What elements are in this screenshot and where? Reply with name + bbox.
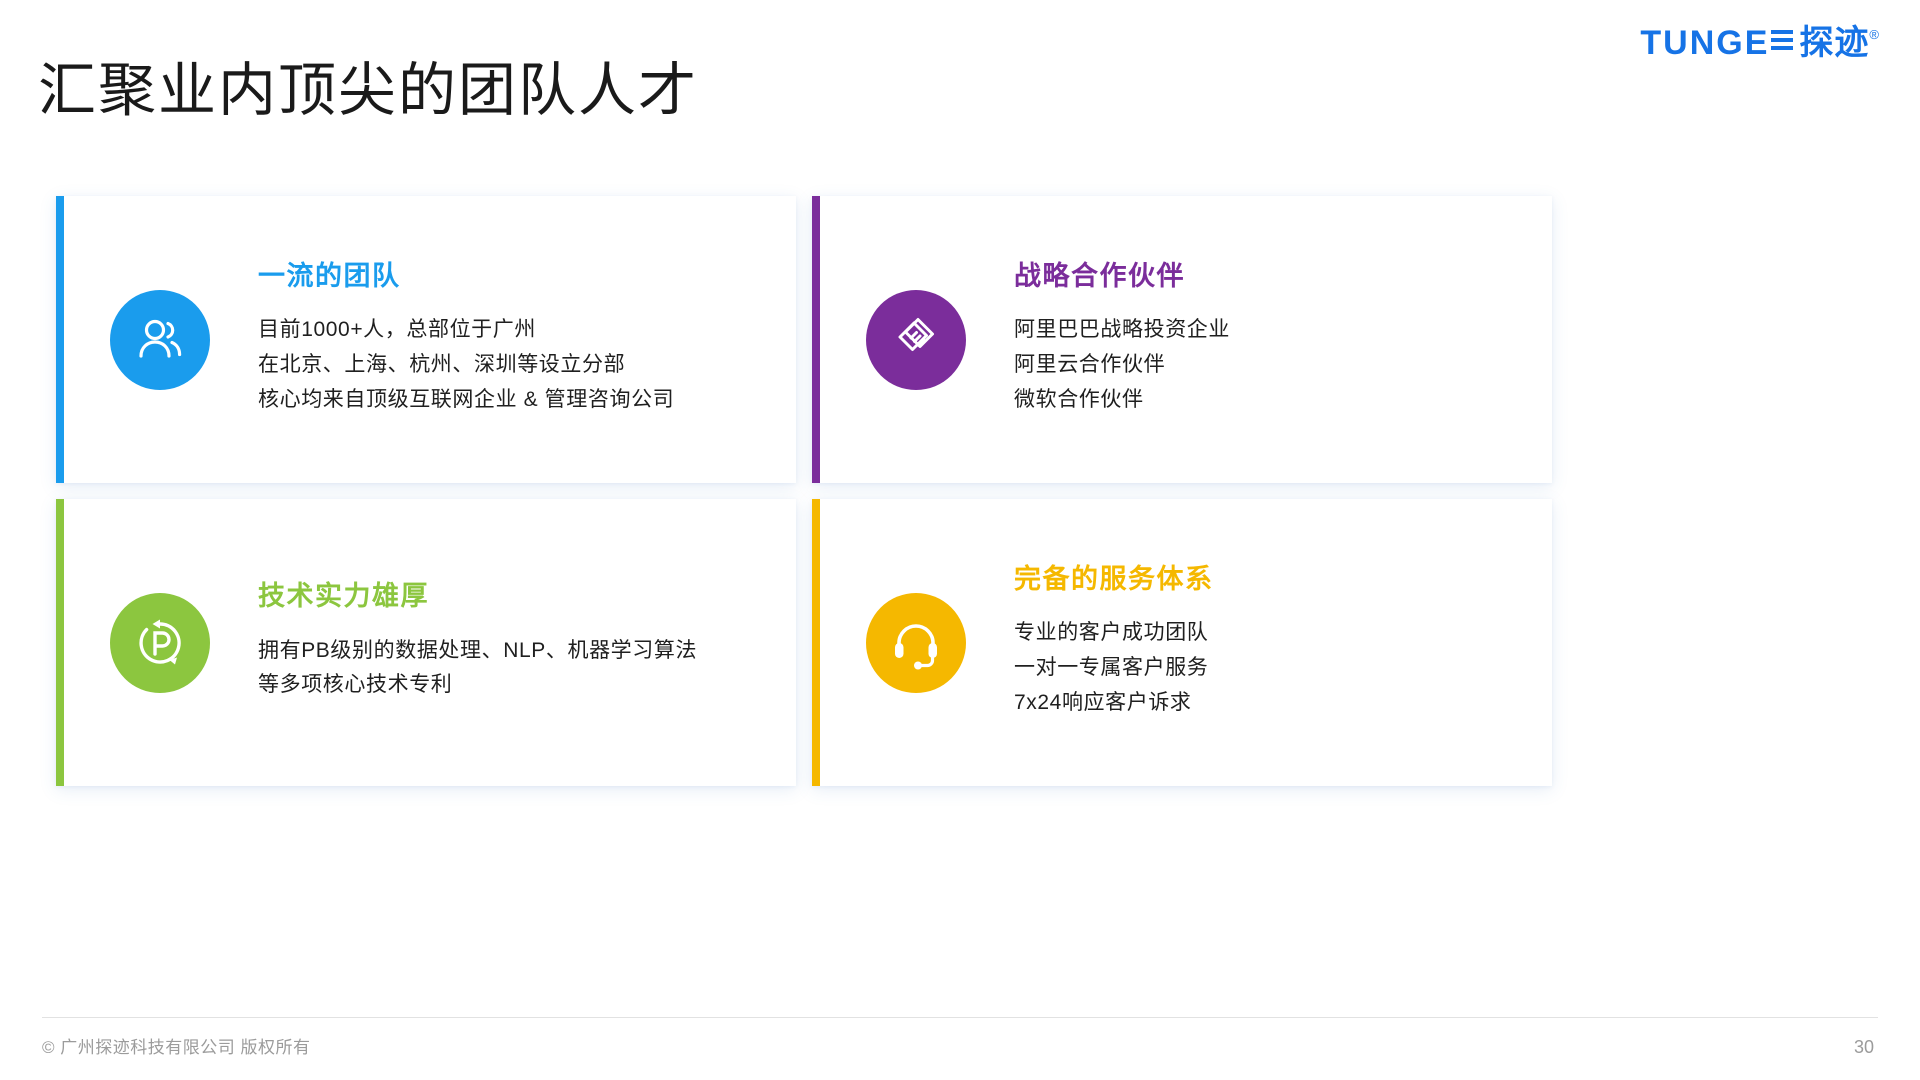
copyright-text: © 广州探迹科技有限公司 版权所有 — [42, 1033, 310, 1058]
tungee-logo-icon: TUNGE 探迹 ® — [1640, 26, 1880, 60]
card-lines: 专业的客户成功团队 一对一专属客户服务 7x24响应客户诉求 — [1014, 616, 1528, 720]
card-line: 专业的客户成功团队 — [1014, 616, 1528, 651]
handshake-icon — [866, 290, 966, 390]
card-body: 战略合作伙伴 阿里巴巴战略投资企业 阿里云合作伙伴 微软合作伙伴 — [1014, 262, 1552, 418]
card-lines: 目前1000+人，总部位于广州 在北京、上海、杭州、深圳等设立分部 核心均来自顶… — [258, 313, 772, 417]
card-body: 一流的团队 目前1000+人，总部位于广州 在北京、上海、杭州、深圳等设立分部 … — [258, 262, 796, 418]
slide: TUNGE 探迹 ® 汇聚业内顶尖的团队人才 一流的团队 目前1000+人，总部… — [0, 0, 1920, 1080]
card-line: 微软合作伙伴 — [1014, 383, 1528, 418]
page-title: 汇聚业内顶尖的团队人才 — [38, 56, 698, 126]
card-line: 阿里云合作伙伴 — [1014, 348, 1528, 383]
footer-divider — [42, 1017, 1878, 1018]
logo-bars-icon — [1771, 26, 1793, 50]
card-title: 技术实力雄厚 — [258, 582, 772, 612]
card-body: 技术实力雄厚 拥有PB级别的数据处理、NLP、机器学习算法 等多项核心技术专利 — [258, 582, 796, 703]
patent-cycle-icon — [110, 593, 210, 693]
headset-icon — [866, 593, 966, 693]
card-line: 在北京、上海、杭州、深圳等设立分部 — [258, 348, 772, 383]
page-number: 30 — [1854, 1037, 1874, 1058]
card-body: 完备的服务体系 专业的客户成功团队 一对一专属客户服务 7x24响应客户诉求 — [1014, 565, 1552, 721]
cards-grid: 一流的团队 目前1000+人，总部位于广州 在北京、上海、杭州、深圳等设立分部 … — [56, 196, 1520, 786]
card-title: 完备的服务体系 — [1014, 565, 1528, 595]
card-lines: 拥有PB级别的数据处理、NLP、机器学习算法 等多项核心技术专利 — [258, 634, 772, 703]
card-line: 拥有PB级别的数据处理、NLP、机器学习算法 — [258, 634, 772, 669]
card-line: 核心均来自顶级互联网企业 & 管理咨询公司 — [258, 383, 772, 418]
card-line: 7x24响应客户诉求 — [1014, 686, 1528, 721]
registered-mark-icon: ® — [1869, 28, 1880, 41]
card-line: 一对一专属客户服务 — [1014, 651, 1528, 686]
card-lines: 阿里巴巴战略投资企业 阿里云合作伙伴 微软合作伙伴 — [1014, 313, 1528, 417]
card-line: 目前1000+人，总部位于广州 — [258, 313, 772, 348]
card-service: 完备的服务体系 专业的客户成功团队 一对一专属客户服务 7x24响应客户诉求 — [812, 499, 1552, 786]
card-title: 战略合作伙伴 — [1014, 262, 1528, 292]
card-technology: 技术实力雄厚 拥有PB级别的数据处理、NLP、机器学习算法 等多项核心技术专利 — [56, 499, 796, 786]
logo-wordmark: TUNGE — [1640, 26, 1769, 60]
users-icon — [110, 290, 210, 390]
card-line: 等多项核心技术专利 — [258, 668, 772, 703]
card-partners: 战略合作伙伴 阿里巴巴战略投资企业 阿里云合作伙伴 微软合作伙伴 — [812, 196, 1552, 483]
card-team: 一流的团队 目前1000+人，总部位于广州 在北京、上海、杭州、深圳等设立分部 … — [56, 196, 796, 483]
logo-chinese-name: 探迹 — [1799, 26, 1869, 60]
card-line: 阿里巴巴战略投资企业 — [1014, 313, 1528, 348]
card-title: 一流的团队 — [258, 262, 772, 292]
